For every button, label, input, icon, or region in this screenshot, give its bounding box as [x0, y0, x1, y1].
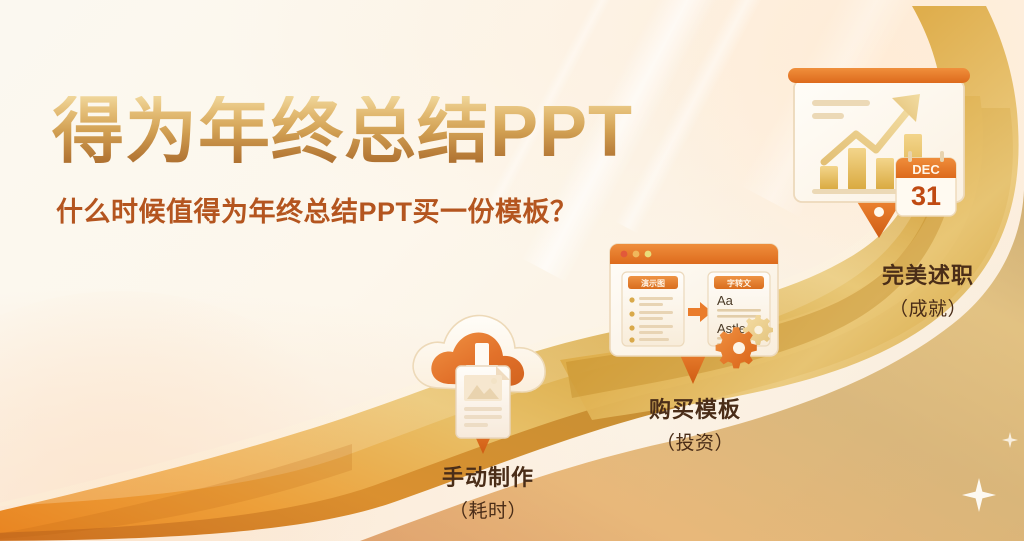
- light-streak: [615, 0, 793, 234]
- milestone-template-title: 购买模板: [615, 392, 775, 424]
- right-panel-header: 字转文: [727, 278, 752, 288]
- milestone-manual-label: 手动制作 （耗时）: [408, 460, 568, 523]
- milestone-report-subtitle: （成就）: [848, 294, 1008, 321]
- milestone-template-subtitle: （投资）: [615, 428, 775, 455]
- milestone-template-label: 购买模板 （投资）: [615, 392, 775, 455]
- calendar-month: DEC: [912, 162, 940, 177]
- milestone-template[interactable]: 演示图 字转文 Aa Astle: [600, 238, 790, 378]
- calendar-icon: DEC 31: [896, 151, 956, 216]
- template-conversion-window-icon: 演示图 字转文 Aa Astle: [600, 238, 790, 388]
- page-subtitle: 什么时候值得为年终总结PPT买一份模板？: [56, 190, 633, 229]
- left-panel-header: 演示图: [641, 278, 665, 288]
- headline-block: 得为年终总结PPT 什么时候值得为年终总结PPT买一份模板？: [52, 96, 633, 229]
- sparkle-icon: [1002, 432, 1018, 448]
- poster-canvas: 得为年终总结PPT 什么时候值得为年终总结PPT买一份模板？: [0, 0, 1024, 541]
- milestone-report[interactable]: DEC 31: [780, 62, 985, 232]
- bottom-left-glow: [0, 291, 380, 541]
- milestone-report-title: 完美述职: [848, 258, 1008, 290]
- sparkle-icon: [962, 478, 996, 512]
- presentation-board-chart-icon: DEC 31: [780, 62, 985, 242]
- milestone-manual[interactable]: [398, 296, 568, 466]
- milestone-manual-subtitle: （耗时）: [408, 496, 568, 523]
- page-title: 得为年终总结PPT: [52, 96, 633, 168]
- milestone-manual-title: 手动制作: [408, 460, 568, 492]
- gear-large-icon: [716, 327, 757, 368]
- milestone-report-label: 完美述职 （成就）: [848, 258, 1008, 321]
- calendar-day: 31: [911, 181, 941, 211]
- sample-text-aa: Aa: [717, 293, 734, 308]
- cloud-download-document-icon: [398, 296, 568, 466]
